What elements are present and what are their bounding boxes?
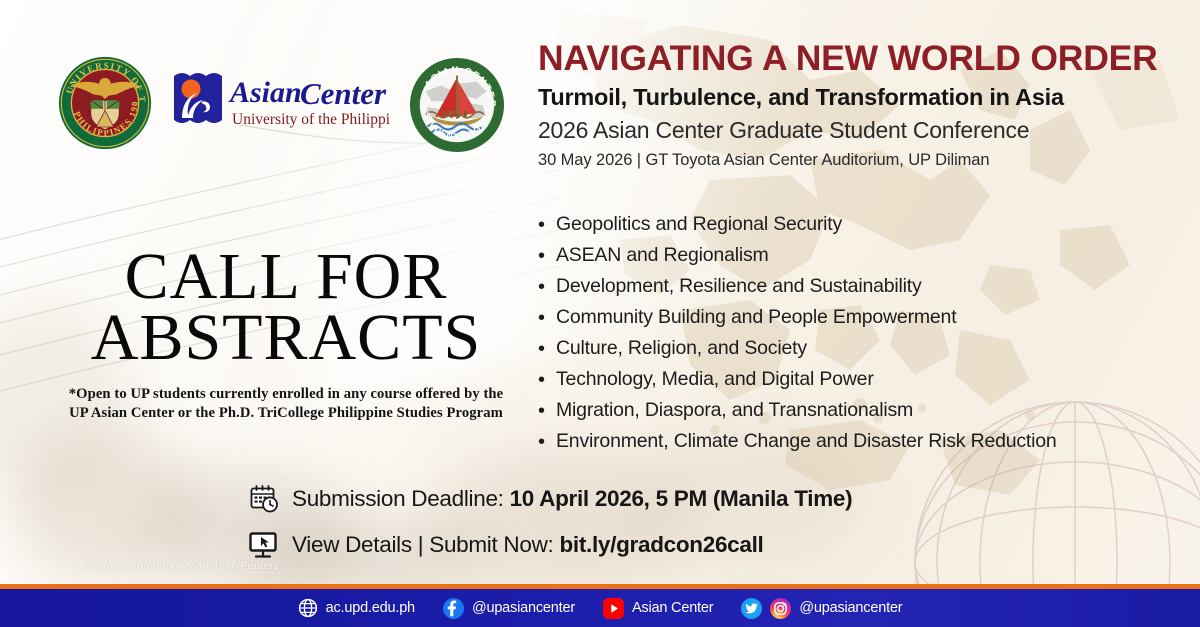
topic-label: Environment, Climate Change and Disaster… (556, 431, 1057, 452)
headline-block: NAVIGATING A NEW WORLD ORDER Turmoil, Tu… (538, 40, 1178, 170)
submission-block: Submission Deadline: 10 April 2026, 5 PM… (248, 480, 1008, 572)
svg-text:Asian: Asian (228, 76, 302, 109)
asian-center-logo: Asian Center University of the Philippin… (168, 66, 390, 134)
bullet-icon: • (538, 308, 556, 328)
twitter-icon[interactable] (741, 598, 762, 619)
submit-link-label: View Details | Submit Now: (292, 532, 559, 557)
bullet-icon: • (538, 401, 556, 421)
background-blob (10, 430, 200, 580)
svg-text:Center: Center (300, 76, 387, 111)
list-item: • Community Building and People Empowerm… (538, 307, 1188, 328)
footer-bar: ac.upd.edu.ph @upasiancenter Asian Cente… (0, 589, 1200, 627)
list-item: • ASEAN and Regionalism (538, 245, 1188, 266)
deadline-row: Submission Deadline: 10 April 2026, 5 PM… (248, 480, 1008, 518)
topic-label: Geopolitics and Regional Security (556, 214, 842, 235)
bullet-icon: • (538, 339, 556, 359)
topics-list: • Geopolitics and Regional Security • AS… (538, 214, 1188, 462)
acso-seal-logo: ASIAN CENTER STUDENT ORGANIZATION (408, 56, 506, 154)
instagram-icon[interactable] (770, 598, 791, 619)
footer-website[interactable]: ac.upd.edu.ph (298, 598, 415, 618)
footer-facebook-label: @upasiancenter (472, 600, 575, 616)
poster-canvas: Photo captured by Adnan Abidi/Reuters UN… (0, 0, 1200, 627)
submit-link-url[interactable]: bit.ly/gradcon26call (559, 532, 763, 557)
footer-instagram-label: @upasiancenter (799, 600, 902, 616)
headline-subtitle: Turmoil, Turbulence, and Transformation … (538, 85, 1178, 111)
topic-label: Culture, Religion, and Society (556, 338, 807, 359)
calendar-clock-icon (248, 480, 292, 518)
cfa-line-1: CALL FOR (36, 246, 536, 307)
list-item: • Environment, Climate Change and Disast… (538, 431, 1188, 452)
list-item: • Development, Resilience and Sustainabi… (538, 276, 1188, 297)
cfa-line-2: ABSTRACTS (36, 307, 536, 368)
deadline-text: Submission Deadline: 10 April 2026, 5 PM… (292, 486, 852, 512)
footer-twitter-instagram[interactable]: @upasiancenter (741, 598, 902, 619)
topic-label: Migration, Diaspora, and Transnationalis… (556, 400, 913, 421)
event-date-venue: 30 May 2026 | GT Toyota Asian Center Aud… (538, 151, 1178, 170)
globe-icon (298, 598, 318, 618)
monitor-cursor-icon (248, 526, 292, 564)
footer-youtube-label: Asian Center (632, 600, 713, 616)
logo-row: UNIVERSITY OF THE PHILIPPINES 1908 (0, 0, 540, 170)
bullet-icon: • (538, 370, 556, 390)
bullet-icon: • (538, 432, 556, 452)
call-for-abstracts-block: CALL FOR ABSTRACTS *Open to UP students … (36, 246, 536, 423)
page-title: NAVIGATING A NEW WORLD ORDER (538, 40, 1178, 77)
submit-link-text[interactable]: View Details | Submit Now: bit.ly/gradco… (292, 532, 764, 558)
cfa-note-line-1: *Open to UP students currently enrolled … (36, 385, 536, 404)
conference-name: 2026 Asian Center Graduate Student Confe… (538, 117, 1178, 143)
facebook-icon (443, 598, 464, 619)
list-item: • Migration, Diaspora, and Transnational… (538, 400, 1188, 421)
list-item: • Geopolitics and Regional Security (538, 214, 1188, 235)
footer-facebook[interactable]: @upasiancenter (443, 598, 575, 619)
bullet-icon: • (538, 215, 556, 235)
list-item: • Culture, Religion, and Society (538, 338, 1188, 359)
topic-label: ASEAN and Regionalism (556, 245, 769, 266)
footer-website-label: ac.upd.edu.ph (326, 600, 415, 616)
youtube-icon (603, 598, 624, 619)
bullet-icon: • (538, 246, 556, 266)
deadline-value: 10 April 2026, 5 PM (Manila Time) (510, 486, 853, 511)
list-item: • Technology, Media, and Digital Power (538, 369, 1188, 390)
deadline-label: Submission Deadline: (292, 486, 510, 511)
bullet-icon: • (538, 277, 556, 297)
svg-text:University of the Philippines: University of the Philippines (232, 111, 390, 128)
topic-label: Development, Resilience and Sustainabili… (556, 276, 922, 297)
topic-label: Community Building and People Empowermen… (556, 307, 956, 328)
up-seal-logo: UNIVERSITY OF THE PHILIPPINES 1908 (57, 55, 153, 151)
submit-link-row: View Details | Submit Now: bit.ly/gradco… (248, 526, 1008, 564)
cfa-note-line-2: UP Asian Center or the Ph.D. TriCollege … (36, 404, 536, 423)
topic-label: Technology, Media, and Digital Power (556, 369, 874, 390)
footer-youtube[interactable]: Asian Center (603, 598, 713, 619)
